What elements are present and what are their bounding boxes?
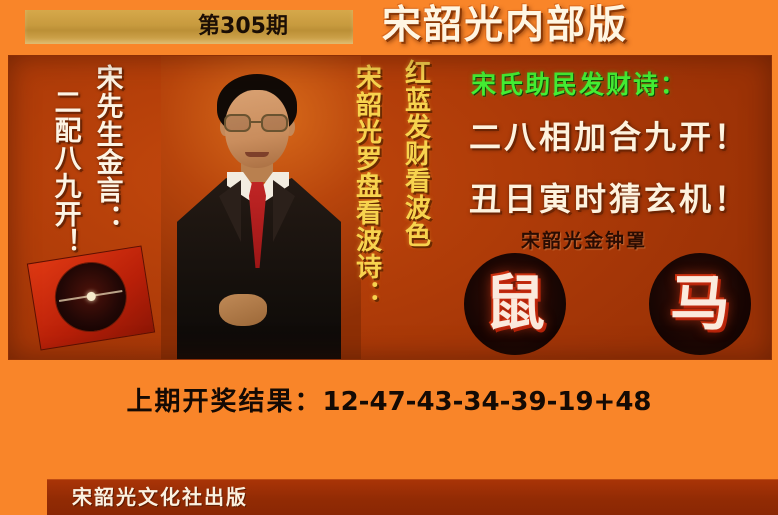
lens-right (261, 114, 288, 132)
result-numbers: 12-47-43-34-39-19+48 (323, 387, 652, 417)
result-label: 上期开奖结果： (126, 387, 322, 417)
luopan-compass-icon (27, 245, 155, 350)
poem-line-1: 二八相加合九开！ (469, 112, 769, 158)
zodiac-circle-1: 鼠 (464, 253, 566, 355)
issue-number-label: 第305期 (188, 12, 298, 42)
header-band: 第305期 宋韶光内部版 (0, 0, 778, 52)
hand (219, 294, 267, 326)
lens-left (224, 114, 251, 132)
vertical-text-master-saying: 宋先生金言： (93, 64, 121, 232)
poster-root: 第305期 宋韶光内部版 宋先生金言： 二配八九开！ (0, 0, 778, 515)
brand-title: 宋韶光内部版 (382, 1, 682, 51)
portrait-photo (161, 56, 361, 360)
zodiac-circle-2: 马 (649, 253, 751, 355)
main-artwork-panel: 宋先生金言： 二配八九开！ (8, 55, 772, 360)
eyeglasses-icon (224, 114, 290, 132)
previous-draw-result: 上期开奖结果：12-47-43-34-39-19+48 (0, 381, 778, 423)
vertical-text-color-hint: 红蓝发财看波色 (402, 59, 429, 248)
poem-line-2: 丑日寅时猜玄机！ (469, 174, 769, 220)
glasses-bridge (251, 121, 261, 123)
vertical-text-compass-poem: 宋韶光罗盘看波诗： (353, 64, 380, 307)
charm-label: 宋韶光金钟罩 (521, 226, 751, 253)
publisher-label: 宋韶光文化社出版 (72, 482, 248, 512)
zodiac-glyph-rat: 鼠 (464, 253, 566, 355)
poem-title: 宋氏助民发财诗： (471, 65, 761, 101)
mouth (245, 152, 269, 157)
vertical-text-number-hint: 二配八九开！ (51, 88, 79, 256)
zodiac-glyph-horse: 马 (649, 253, 751, 355)
